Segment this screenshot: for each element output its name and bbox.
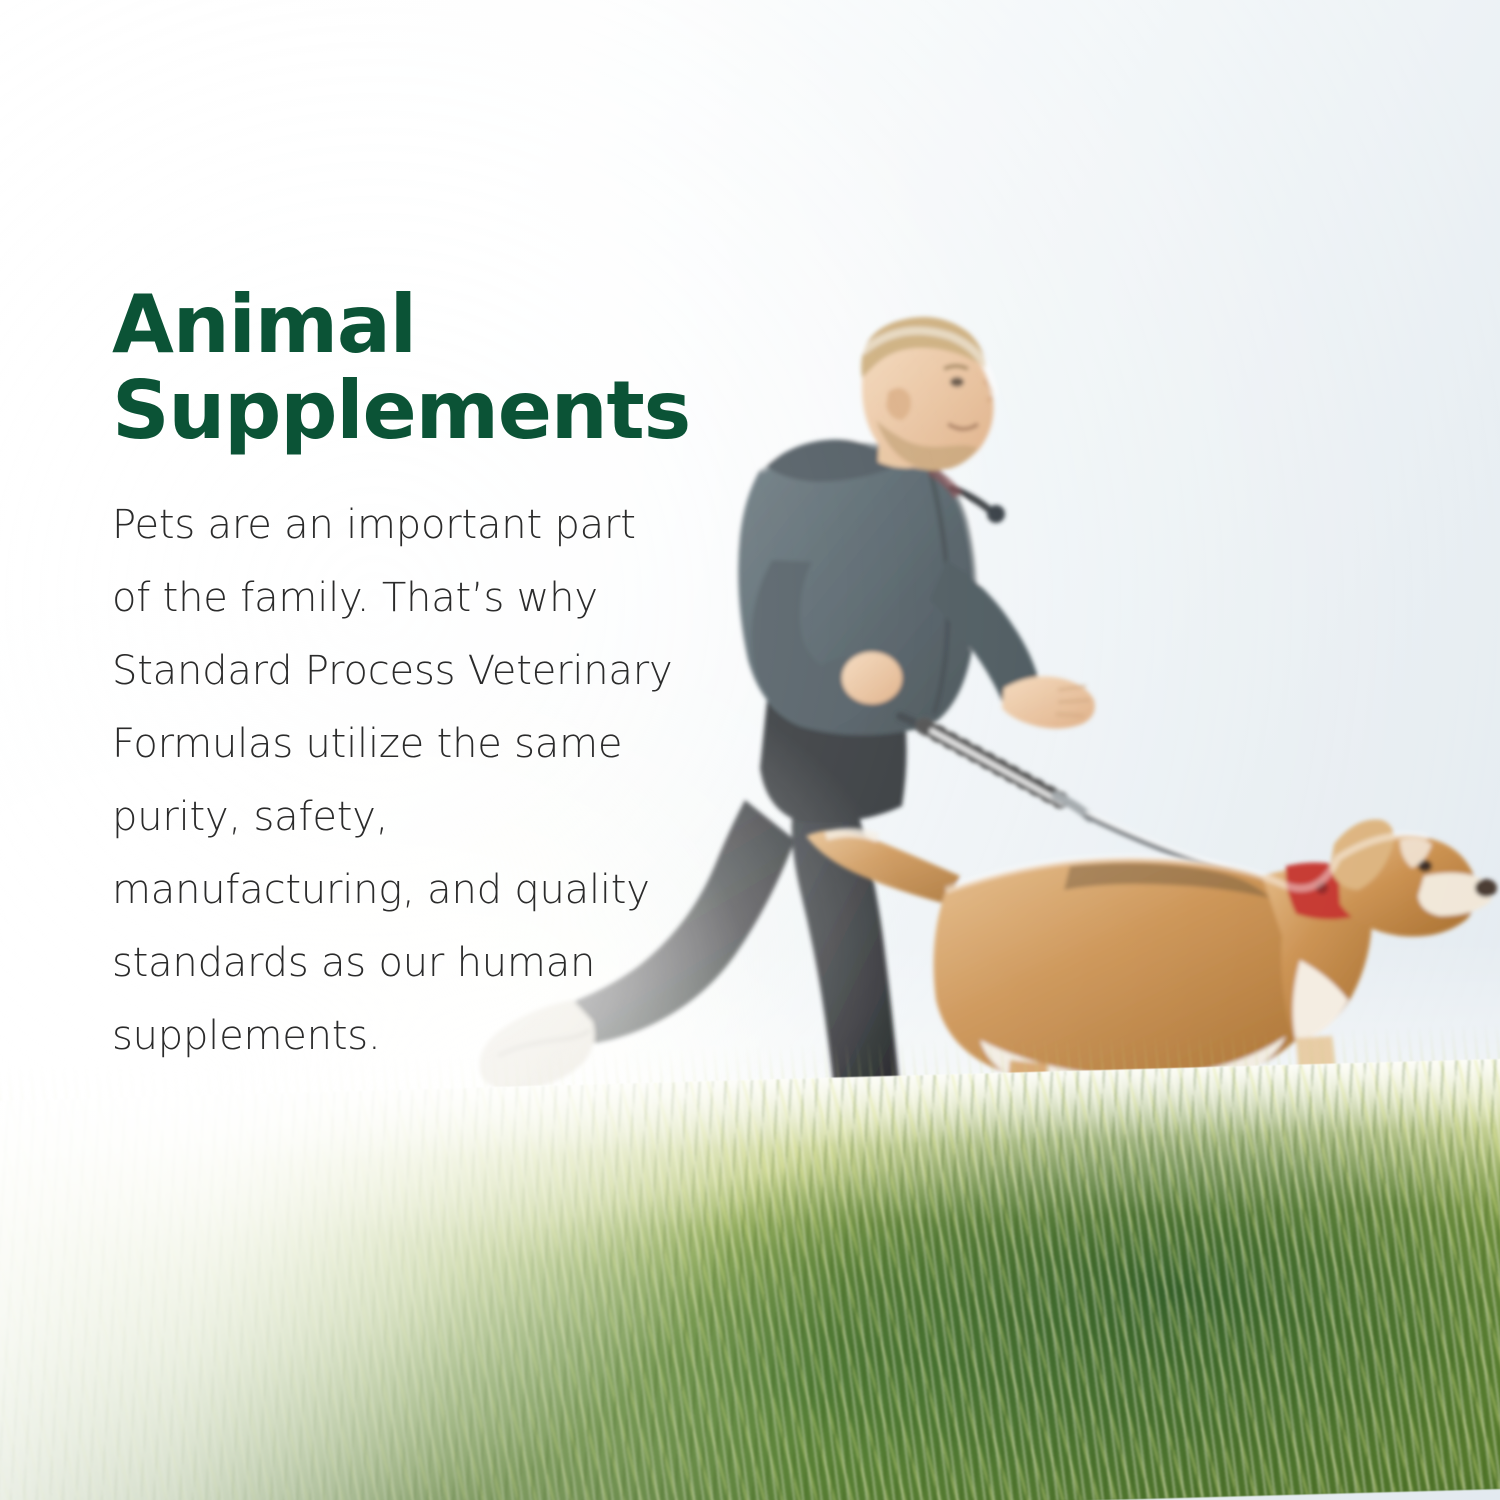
grass-field [0, 1059, 1500, 1500]
text-panel: Animal Supplements Pets are an important… [112, 282, 692, 1073]
grass-blades [0, 1059, 1500, 1500]
body-paragraph: Pets are an important part of the family… [112, 453, 677, 1073]
poster-canvas: Animal Supplements Pets are an important… [0, 0, 1500, 1500]
page-title: Animal Supplements [112, 282, 692, 453]
